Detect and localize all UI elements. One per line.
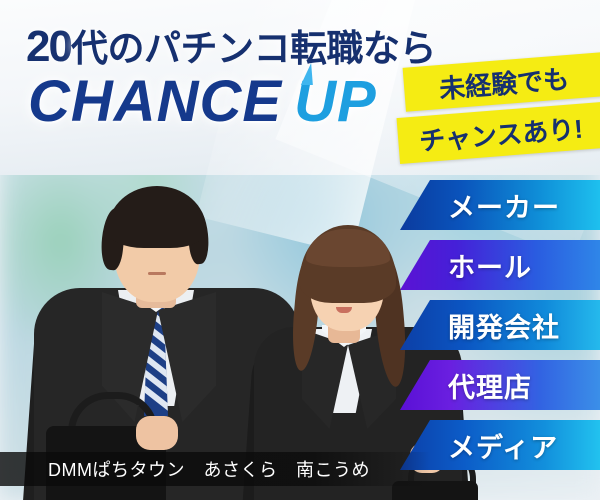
- category-button-hall[interactable]: ホール: [400, 240, 600, 290]
- man-mouth: [148, 272, 166, 275]
- logo-accent-text: UP: [294, 69, 377, 134]
- category-label: ホール: [448, 246, 532, 285]
- man-hair: [108, 186, 206, 248]
- category-button-media[interactable]: メディア: [400, 420, 600, 470]
- category-button-maker[interactable]: メーカー: [400, 180, 600, 230]
- headline: 20代のパチンコ転職なら: [26, 18, 436, 72]
- logo-main-text: CHANCE: [28, 69, 282, 134]
- chance-up-logo: CHANCEUP: [28, 68, 377, 135]
- category-label: メディア: [448, 426, 558, 465]
- badge-label: チャンスあり!: [418, 108, 584, 158]
- category-label: 代理店: [448, 366, 532, 405]
- category-button-development-company[interactable]: 開発会社: [400, 300, 600, 350]
- promo-banner: 20代のパチンコ転職なら CHANCEUP 未経験でも チャンスあり! メーカー…: [0, 0, 600, 500]
- category-label: メーカー: [448, 186, 560, 225]
- category-label: 開発会社: [448, 306, 560, 345]
- badge-label: 未経験でも: [438, 58, 571, 105]
- headline-text: 代のパチンコ転職なら: [71, 28, 436, 69]
- caption-bar: DMMぱちタウン あさくら 南こうめ: [0, 452, 430, 486]
- caption-text: DMMぱちタウン あさくら 南こうめ: [48, 456, 370, 482]
- man-hand: [136, 416, 178, 450]
- category-button-agency[interactable]: 代理店: [400, 360, 600, 410]
- headline-number: 20: [26, 22, 71, 71]
